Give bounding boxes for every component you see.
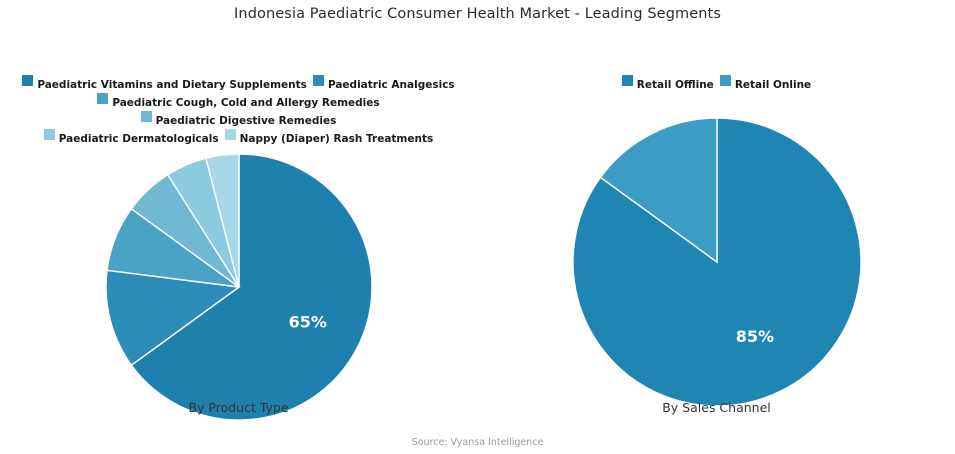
legend-swatch-icon-0 (22, 75, 33, 86)
pie-svg-sales-channel[interactable]: 85% (572, 117, 862, 407)
page-title: Indonesia Paediatric Consumer Health Mar… (0, 0, 955, 22)
pie-chart-sales-channel: 85% (478, 117, 955, 411)
panel-subtitle-sales-channel: By Sales Channel (478, 400, 955, 415)
pie-chart-product-type: 65% (0, 153, 477, 425)
legend-item-1[interactable]: Paediatric Analgesics (313, 75, 455, 93)
legend-swatch-icon-4 (44, 129, 55, 140)
legend-swatch-icon-2 (97, 93, 108, 104)
legend-label-1: Paediatric Analgesics (328, 77, 455, 93)
legend-swatch-icon-5 (225, 129, 236, 140)
panel-subtitle-product-type: By Product Type (0, 400, 477, 415)
legend-swatch-icon-retail-online (720, 75, 731, 86)
legend-product-type: Paediatric Vitamins and Dietary Suppleme… (0, 62, 477, 147)
legend-item-2[interactable]: Paediatric Cough, Cold and Allergy Remed… (97, 93, 379, 111)
legend-item-retail-offline[interactable]: Retail Offline (622, 75, 714, 93)
legend-label-0: Paediatric Vitamins and Dietary Suppleme… (37, 77, 307, 93)
legend-swatch-icon-retail-offline (622, 75, 633, 86)
pie-slice-percent-label: 65% (288, 313, 326, 332)
chart-panel-sales-channel: Retail Offline Retail Online 85% By Sale… (478, 62, 955, 437)
pie-slice-percent-label: 85% (735, 327, 773, 346)
source-note: Source: Vyansa Intelligence (0, 437, 955, 448)
legend-item-3[interactable]: Paediatric Digestive Remedies (141, 111, 337, 129)
legend-label-retail-offline: Retail Offline (637, 77, 714, 93)
pie-svg-product-type[interactable]: 65% (105, 153, 373, 421)
legend-label-4: Paediatric Dermatologicals (59, 131, 219, 147)
legend-item-4[interactable]: Paediatric Dermatologicals (44, 129, 219, 147)
legend-label-retail-online: Retail Online (735, 77, 811, 93)
legend-sales-channel: Retail Offline Retail Online (478, 62, 955, 93)
legend-swatch-icon-1 (313, 75, 324, 86)
legend-item-5[interactable]: Nappy (Diaper) Rash Treatments (225, 129, 434, 147)
legend-label-3: Paediatric Digestive Remedies (156, 113, 337, 129)
legend-label-2: Paediatric Cough, Cold and Allergy Remed… (112, 95, 379, 111)
legend-item-0[interactable]: Paediatric Vitamins and Dietary Suppleme… (22, 75, 307, 93)
legend-swatch-icon-3 (141, 111, 152, 122)
chart-panel-product-type: Paediatric Vitamins and Dietary Suppleme… (0, 62, 477, 437)
legend-label-5: Nappy (Diaper) Rash Treatments (240, 131, 434, 147)
legend-item-retail-online[interactable]: Retail Online (720, 75, 811, 93)
